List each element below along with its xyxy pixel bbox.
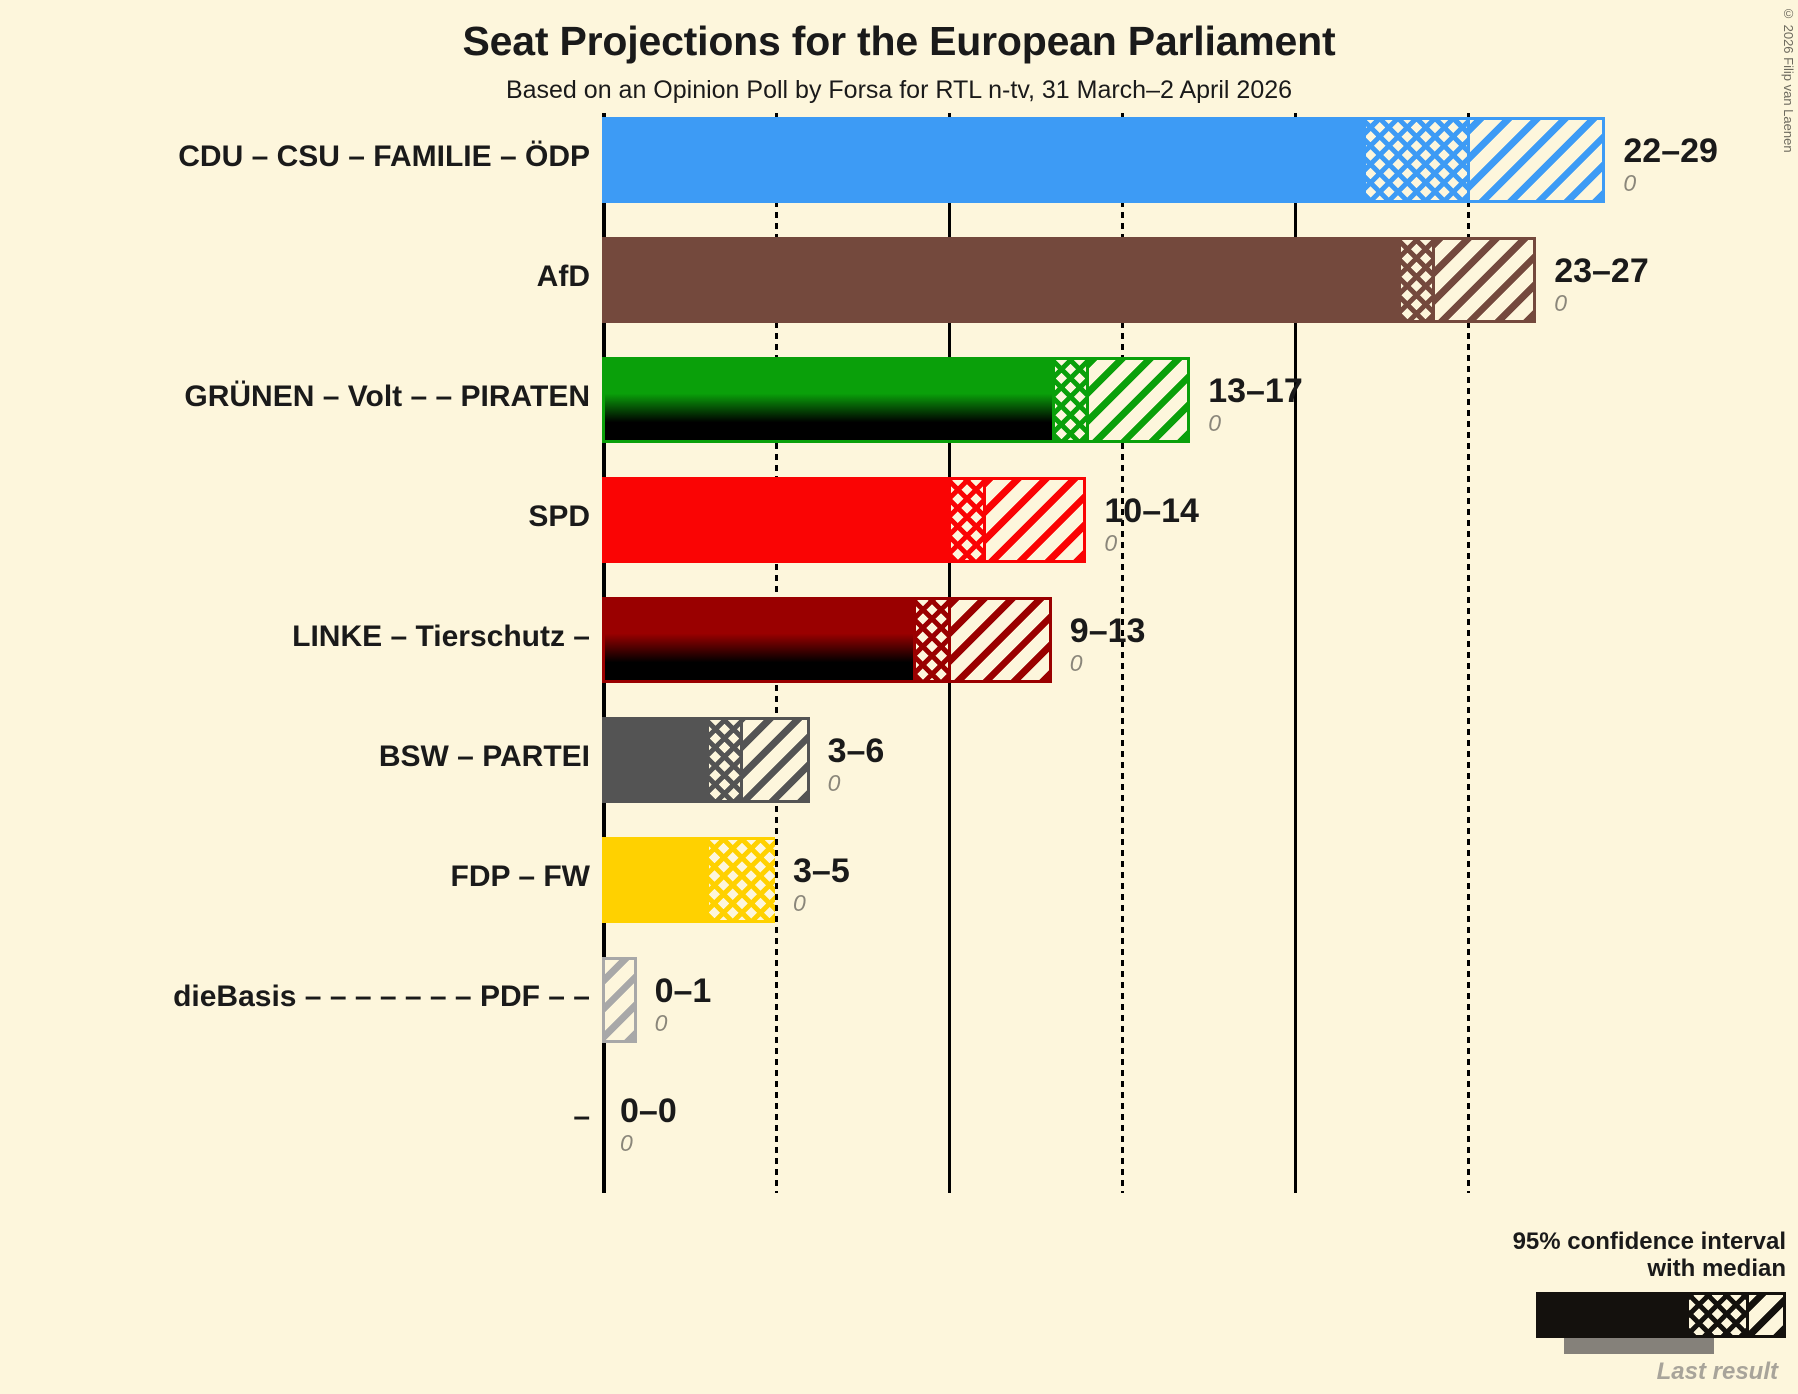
bar-last-result: 0: [1104, 532, 1199, 555]
bar-segment-diagonal: [948, 597, 1052, 683]
bar-value-range: 10–14: [1104, 492, 1199, 530]
bar-segment-diagonal: [983, 477, 1087, 563]
legend-last-result-label: Last result: [1466, 1358, 1778, 1386]
bar-segment-diagonal: [602, 957, 637, 1043]
bar-segment-crosshatch: [706, 717, 741, 803]
bar-last-result: 0: [793, 892, 850, 915]
bar-value-4: 9–130: [1070, 614, 1146, 675]
bar-value-range: 23–27: [1554, 252, 1649, 290]
bar-value-range: 0–0: [620, 1092, 677, 1130]
bar-label-4: LINKE – Tierschutz –: [292, 622, 590, 652]
legend-line-2: with median: [1466, 1256, 1786, 1283]
legend-line-1: 95% confidence interval: [1466, 1229, 1786, 1256]
page-subtitle: Based on an Opinion Poll by Forsa for RT…: [0, 76, 1798, 105]
bar-value-8: 0–00: [620, 1094, 677, 1155]
bar-segment-solid: [602, 717, 706, 803]
bar-last-result: 0: [655, 1012, 712, 1035]
bar-row: [602, 957, 637, 1043]
bar-value-2: 13–170: [1208, 374, 1303, 435]
bar-row: [602, 357, 1190, 443]
bar-last-result: 0: [1208, 412, 1303, 435]
bar-label-5: BSW – PARTEI: [379, 742, 590, 772]
bar-row: [602, 837, 775, 923]
bar-row: [602, 237, 1536, 323]
plot-area: [0, 113, 1798, 1193]
bar-value-0: 22–290: [1623, 134, 1718, 195]
bar-segment-solid: [602, 357, 1052, 443]
page-title: Seat Projections for the European Parlia…: [0, 18, 1798, 65]
bar-row: [602, 1077, 603, 1163]
bar-value-5: 3–60: [828, 734, 885, 795]
bar-label-0: CDU – CSU – FAMILIE – ÖDP: [178, 142, 590, 172]
bar-value-range: 3–6: [828, 732, 885, 770]
legend-crosshatch-segment: [1686, 1292, 1746, 1338]
bar-row: [602, 597, 1052, 683]
bar-value-range: 3–5: [793, 852, 850, 890]
bar-segment-crosshatch: [706, 837, 775, 923]
legend-swatch: [1536, 1292, 1786, 1338]
legend-median-segment: [1536, 1292, 1686, 1338]
bar-value-range: 9–13: [1070, 612, 1146, 650]
bar-segment-solid: [602, 597, 913, 683]
chart-root: Seat Projections for the European Parlia…: [0, 0, 1798, 1394]
bar-segment-crosshatch: [948, 477, 983, 563]
bar-value-range: 0–1: [655, 972, 712, 1010]
bar-label-7: dieBasis – – – – – – – PDF – –: [173, 982, 590, 1012]
bar-last-result: 0: [1070, 652, 1146, 675]
bar-row: [602, 717, 810, 803]
bar-segment-diagonal: [1467, 117, 1605, 203]
bar-label-2: GRÜNEN – Volt – – PIRATEN: [184, 382, 590, 412]
chart-legend: 95% confidence interval with median Last…: [1466, 1229, 1786, 1386]
bar-segment-solid: [602, 237, 1398, 323]
bar-label-3: SPD: [528, 502, 590, 532]
bar-segment-crosshatch: [1052, 357, 1087, 443]
bar-last-result: 0: [828, 772, 885, 795]
bar-value-7: 0–10: [655, 974, 712, 1035]
bar-value-range: 13–17: [1208, 372, 1303, 410]
bar-segment-solid: [602, 837, 706, 923]
bar-label-1: AfD: [537, 262, 590, 292]
bar-value-range: 22–29: [1623, 132, 1718, 170]
bar-label-6: FDP – FW: [451, 862, 590, 892]
bar-segment-solid: [602, 117, 1363, 203]
bar-last-result: 0: [1623, 172, 1718, 195]
bar-segment-diagonal: [1432, 237, 1536, 323]
bar-row: [602, 477, 1086, 563]
bar-segment-crosshatch: [913, 597, 948, 683]
bar-segment-crosshatch: [1398, 237, 1433, 323]
bar-segment-solid: [602, 477, 948, 563]
bar-value-6: 3–50: [793, 854, 850, 915]
bar-last-result: 0: [620, 1132, 677, 1155]
bar-value-1: 23–270: [1554, 254, 1649, 315]
legend-last-result-swatch: [1564, 1338, 1714, 1354]
bar-label-8: –: [573, 1102, 590, 1132]
bar-segment-diagonal: [1086, 357, 1190, 443]
bar-segment-diagonal: [740, 717, 809, 803]
legend-diagonal-segment: [1746, 1292, 1786, 1338]
bar-last-result: 0: [1554, 292, 1649, 315]
bar-row: [602, 117, 1605, 203]
bar-segment-crosshatch: [1363, 117, 1467, 203]
bar-value-3: 10–140: [1104, 494, 1199, 555]
